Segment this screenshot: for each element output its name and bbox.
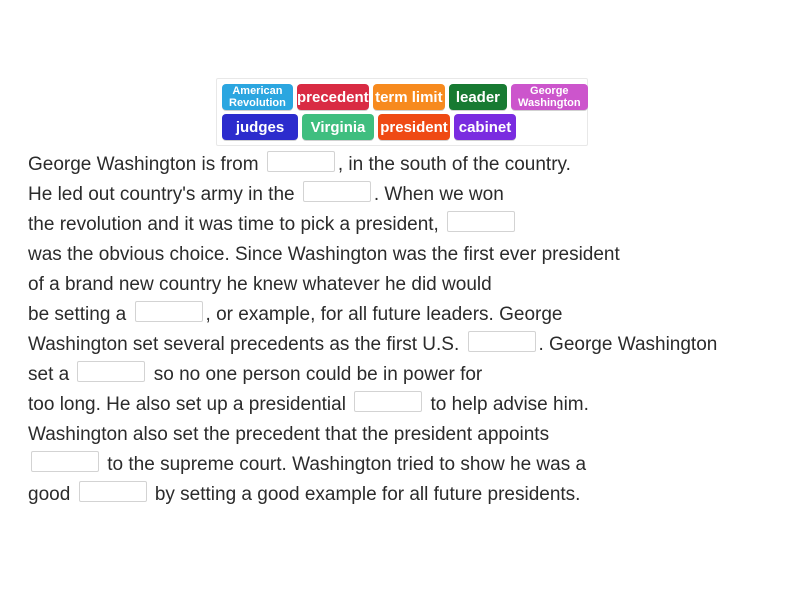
cloze-blank-9[interactable] [79, 481, 147, 502]
word-tile[interactable]: Virginia [302, 114, 374, 140]
cloze-blank-5[interactable] [468, 331, 536, 352]
word-tile[interactable]: judges [222, 114, 298, 140]
cloze-blank-3[interactable] [447, 211, 515, 232]
word-bank-row: American Revolutionprecedentterm limitle… [222, 84, 583, 110]
cloze-blank-1[interactable] [267, 151, 335, 172]
cloze-paragraph: George Washington is from , in the south… [28, 150, 778, 510]
cloze-blank-8[interactable] [31, 451, 99, 472]
word-tile[interactable]: American Revolution [222, 84, 293, 110]
cloze-blank-6[interactable] [77, 361, 145, 382]
word-tile[interactable]: leader [449, 84, 507, 110]
word-tile[interactable]: George Washington [511, 84, 588, 110]
word-tile[interactable]: term limit [373, 84, 445, 110]
cloze-blank-2[interactable] [303, 181, 371, 202]
cloze-text: by setting a good example for all future… [150, 484, 581, 505]
cloze-blank-7[interactable] [354, 391, 422, 412]
cloze-blank-4[interactable] [135, 301, 203, 322]
word-tile[interactable]: precedent [297, 84, 369, 110]
cloze-text: George Washington is from [28, 154, 264, 175]
word-bank: American Revolutionprecedentterm limitle… [216, 78, 588, 146]
word-bank-row: judgesVirginiapresidentcabinet [222, 114, 583, 140]
word-tile[interactable]: president [378, 114, 450, 140]
word-tile[interactable]: cabinet [454, 114, 516, 140]
